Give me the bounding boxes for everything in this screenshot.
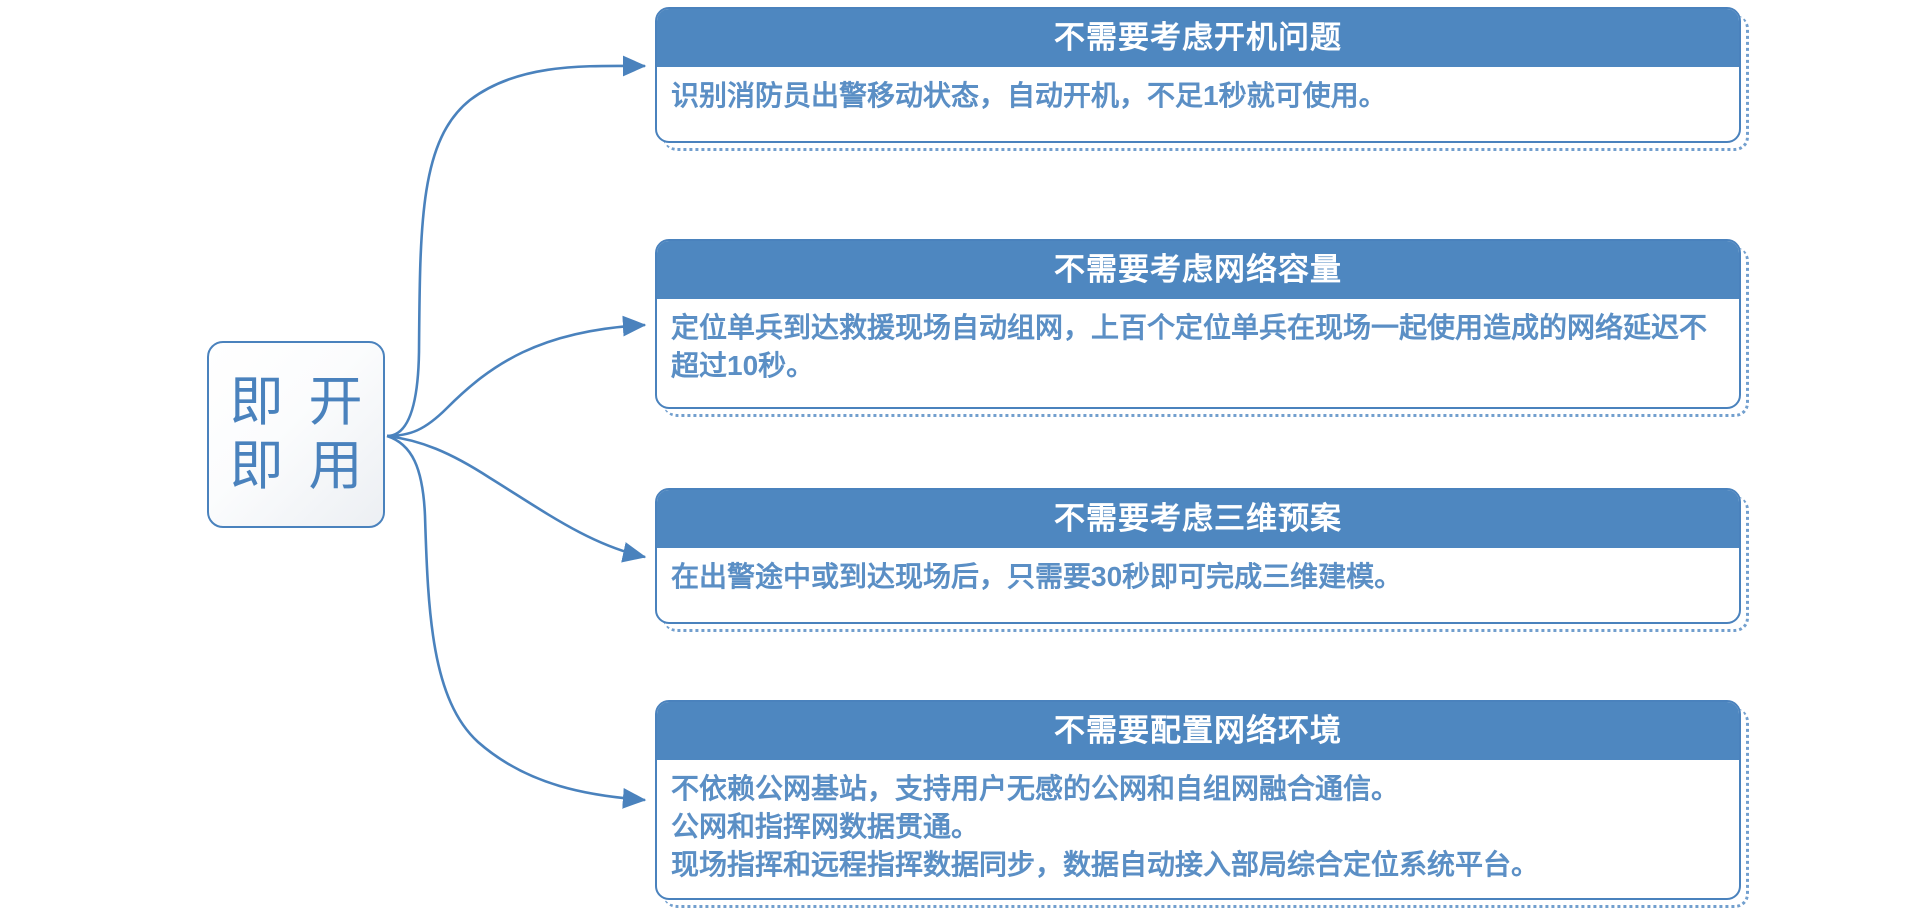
card-body: 不依赖公网基站，支持用户无感的公网和自组网融合通信。 公网和指挥网数据贯通。 现… <box>657 760 1739 891</box>
feature-card[interactable]: 不需要考虑三维预案 在出警途中或到达现场后，只需要30秒即可完成三维建模。 <box>655 488 1741 624</box>
connector-to-card-4 <box>387 436 645 800</box>
feature-card[interactable]: 不需要考虑网络容量 定位单兵到达救援现场自动组网，上百个定位单兵在现场一起使用造… <box>655 239 1741 409</box>
card-body-line: 识别消防员出警移动状态，自动开机，不足1秒就可使用。 <box>671 77 1725 115</box>
feature-card[interactable]: 不需要考虑开机问题 识别消防员出警移动状态，自动开机，不足1秒就可使用。 <box>655 7 1741 143</box>
root-node-line-1: 即 开 <box>224 371 367 435</box>
card-body-line: 现场指挥和远程指挥数据同步，数据自动接入部局综合定位系统平台。 <box>671 846 1725 884</box>
connector-to-card-2 <box>387 325 645 436</box>
card-body: 在出警途中或到达现场后，只需要30秒即可完成三维建模。 <box>657 548 1739 604</box>
root-node[interactable]: 即 开 即 用 <box>207 341 385 528</box>
card-body-line: 不依赖公网基站，支持用户无感的公网和自组网融合通信。 <box>671 770 1725 808</box>
card-title: 不需要考虑三维预案 <box>657 490 1739 548</box>
feature-card[interactable]: 不需要配置网络环境 不依赖公网基站，支持用户无感的公网和自组网融合通信。 公网和… <box>655 700 1741 900</box>
card-body-line: 公网和指挥网数据贯通。 <box>671 808 1725 846</box>
card-body: 识别消防员出警移动状态，自动开机，不足1秒就可使用。 <box>657 67 1739 123</box>
connector-to-card-3 <box>387 436 645 557</box>
card-body: 定位单兵到达救援现场自动组网，上百个定位单兵在现场一起使用造成的网络延迟不超过1… <box>657 299 1739 393</box>
card-body-line: 定位单兵到达救援现场自动组网，上百个定位单兵在现场一起使用造成的网络延迟不超过1… <box>671 309 1725 385</box>
card-title: 不需要考虑网络容量 <box>657 241 1739 299</box>
card-title: 不需要考虑开机问题 <box>657 9 1739 67</box>
card-body-line: 在出警途中或到达现场后，只需要30秒即可完成三维建模。 <box>671 558 1725 596</box>
root-node-line-2: 即 用 <box>224 435 367 499</box>
connector-to-card-1 <box>387 66 645 436</box>
card-title: 不需要配置网络环境 <box>657 702 1739 760</box>
